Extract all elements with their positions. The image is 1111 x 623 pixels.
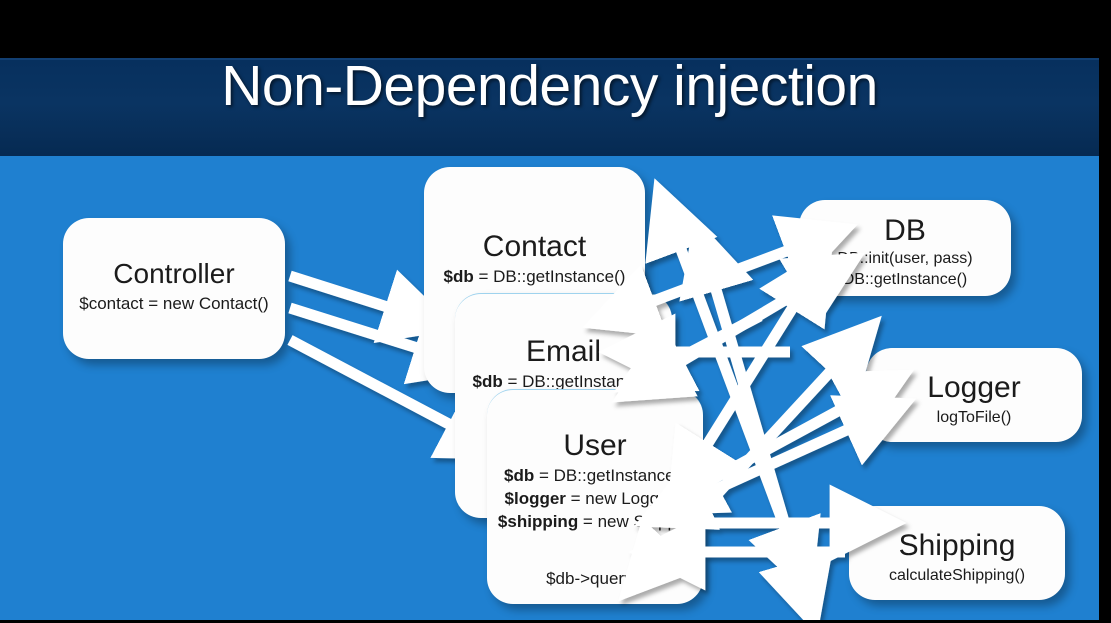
card-user-var-logger: $logger — [505, 489, 566, 508]
arrow-db-contact-return — [668, 316, 760, 364]
slide-root: Non-Dependency injection Controller — [0, 0, 1111, 623]
card-logger-line-1: logToFile() — [866, 406, 1082, 429]
arrow-contact-db — [640, 246, 800, 306]
card-email-title: Email — [455, 334, 672, 370]
card-contact-var: $db — [444, 267, 474, 286]
arrow-user-logger-return — [690, 424, 860, 501]
arrow-user-logger — [700, 399, 860, 486]
card-user-line-3: $shipping = new Shippi() — [487, 510, 703, 533]
card-contact-expr: = DB::getInstance() — [474, 267, 626, 286]
card-contact-title: Contact — [424, 229, 645, 265]
arrow-user-db — [700, 296, 800, 456]
top-black-bar — [0, 0, 1111, 58]
card-logger-title: Logger — [866, 370, 1082, 406]
card-shipping-title: Shipping — [849, 528, 1065, 564]
card-controller[interactable]: Controller $contact = new Contact() — [63, 218, 285, 359]
card-email-var: $db — [473, 372, 503, 391]
card-db[interactable]: DB DB::init(user, pass) DB::getInstance(… — [799, 200, 1011, 296]
card-user[interactable]: User $db = DB::getInstance() $logger = n… — [487, 389, 703, 604]
card-user-footer: $db->query() — [487, 567, 703, 590]
card-db-line-2: DB::getInstance() — [799, 269, 1011, 290]
card-shipping[interactable]: Shipping calculateShipping() — [849, 506, 1065, 600]
arrow-db-shipping-cross — [712, 276, 800, 576]
arrow-controller-email — [290, 308, 430, 352]
card-user-line-2: $logger = new Logger() — [487, 487, 703, 510]
card-user-expr-shipping: = new Shippi() — [578, 512, 692, 531]
card-shipping-line-1: calculateShipping() — [849, 564, 1065, 587]
card-contact-line-1: $db = DB::getInstance() — [424, 265, 645, 288]
card-user-title: User — [487, 428, 703, 464]
card-controller-line-1: $contact = new Contact() — [63, 292, 285, 315]
card-user-var-db: $db — [504, 466, 534, 485]
card-user-spacer — [487, 533, 703, 567]
arrow-email-db — [665, 284, 812, 371]
card-controller-title: Controller — [63, 256, 285, 292]
card-user-var-shipping: $shipping — [498, 512, 578, 531]
card-user-expr-logger: = new Logger() — [566, 489, 686, 508]
diagram-canvas: Controller $contact = new Contact() Cont… — [0, 156, 1099, 620]
arrow-controller-contact — [290, 276, 400, 311]
card-logger[interactable]: Logger logToFile() — [866, 348, 1082, 442]
card-db-line-1: DB::init(user, pass) — [799, 248, 1011, 269]
card-user-line-1: $db = DB::getInstance() — [487, 464, 703, 487]
right-black-strip — [1099, 0, 1111, 623]
page-title: Non-Dependency injection — [0, 55, 1099, 117]
card-db-title: DB — [799, 214, 1011, 248]
card-user-expr-db: = DB::getInstance() — [534, 466, 686, 485]
